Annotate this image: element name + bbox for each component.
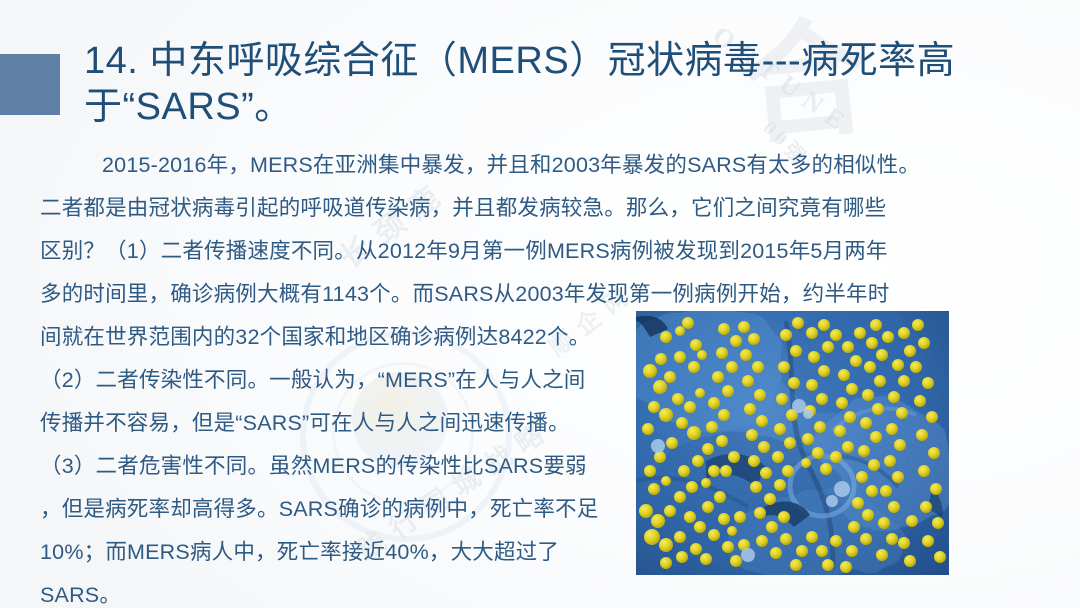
page-title-line-2: 于“SARS”。 <box>84 84 1014 130</box>
paragraph-transmissibility-line-2: 传播并不容易，但是“SARS”可在人与人之间迅速传播。 <box>40 402 640 445</box>
paragraph-intro-line-4: 多的时间里，确诊病例大概有1143个。而SARS从2003年发现第一例病例开始，… <box>40 273 1035 316</box>
virus-micrograph-svg <box>636 311 949 575</box>
paragraph-severity-line-3: 10%；而MERS病人中，死亡率接近40%，大大超过了 <box>40 531 640 574</box>
paragraph-severity: （3）二者危害性不同。虽然MERS的传染性比SARS要弱 ，但是病死率却高得多。… <box>40 445 640 608</box>
page-title: 14. 中东呼吸综合征（MERS）冠状病毒---病死率高 于“SARS”。 <box>84 38 1014 131</box>
paragraph-intro-line-3: 区别？（1）二者传播速度不同。从2012年9月第一例MERS病例被发现到2015… <box>40 230 1035 273</box>
paragraph-transmissibility-line-1: （2）二者传染性不同。一般认为，“MERS”在人与人之间 <box>40 359 640 402</box>
paragraph-severity-line-2: ，但是病死率却高得多。SARS确诊的病例中，死亡率不足 <box>40 488 640 531</box>
paragraph-intro-line-1: 2015-2016年，MERS在亚洲集中暴发，并且和2003年暴发的SARS有太… <box>40 144 1035 187</box>
paragraph-severity-line-1: （3）二者危害性不同。虽然MERS的传染性比SARS要弱 <box>40 445 640 488</box>
paragraph-transmissibility: （2）二者传染性不同。一般认为，“MERS”在人与人之间 传播并不容易，但是“S… <box>40 359 640 445</box>
page-title-line-1: 14. 中东呼吸综合征（MERS）冠状病毒---病死率高 <box>84 38 1014 84</box>
paragraph-intro-line-2: 二者都是由冠状病毒引起的呼吸道传染病，并且都发病较急。那么，它们之间究竟有哪些 <box>40 187 1035 230</box>
virus-micrograph-image <box>636 311 949 575</box>
paragraph-severity-line-4: SARS。 <box>40 574 640 608</box>
slide-canvas: 合 ORTUNE 00强 长颈鹿 顺企网 践行同城战略 14. 中东呼吸综合征（… <box>0 0 1080 608</box>
title-accent-block <box>0 54 60 115</box>
